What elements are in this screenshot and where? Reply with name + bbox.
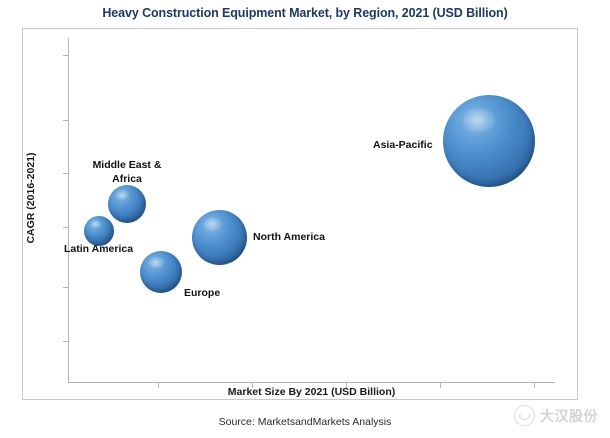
bubble-label-latin-america: Latin America xyxy=(64,242,133,256)
bubble-middle-east[interactable] xyxy=(108,185,146,223)
y-axis-title: CAGR (2016-2021) xyxy=(25,118,37,278)
y-axis-tick-3 xyxy=(63,227,68,228)
x-axis-line xyxy=(68,382,555,383)
bubble-label-asia-pacific: Asia-Pacific xyxy=(373,138,433,152)
y-axis-tick-4 xyxy=(63,287,68,288)
watermark-label: 大汉股份 xyxy=(540,406,598,426)
y-axis-tick-5 xyxy=(63,341,68,342)
bubble-europe[interactable] xyxy=(140,251,182,293)
y-axis-line xyxy=(68,38,69,383)
y-axis-tick-1 xyxy=(63,120,68,121)
x-axis-title: Market Size By 2021 (USD Billion) xyxy=(68,386,555,398)
bubble-label-middle-east: Middle East & Africa xyxy=(72,158,182,186)
chart-plot-frame xyxy=(22,28,578,400)
y-axis-tick-0 xyxy=(63,55,68,56)
bubble-label-europe: Europe xyxy=(184,286,220,300)
watermark: 大汉股份 xyxy=(514,405,598,426)
watermark-logo-icon xyxy=(514,405,535,426)
y-axis-tick-2 xyxy=(63,173,68,174)
bubble-label-north-america: North America xyxy=(253,230,325,244)
bubble-north-america[interactable] xyxy=(192,210,247,265)
bubble-asia-pacific[interactable] xyxy=(443,95,535,187)
page-title: Heavy Construction Equipment Market, by … xyxy=(0,6,610,20)
